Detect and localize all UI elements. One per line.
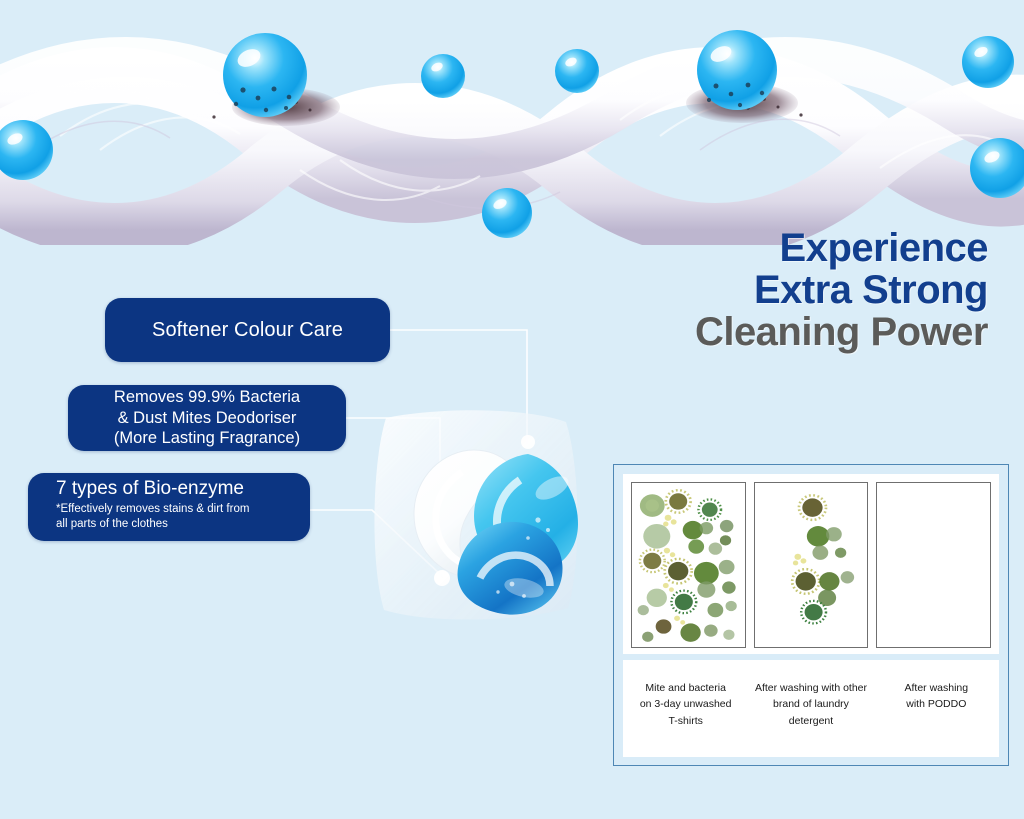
caption-poddo: After washing with PODDO: [874, 680, 999, 757]
comparison-panel: Mite and bacteria on 3-day unwashed T-sh…: [613, 464, 1009, 766]
callout-2-line-2: & Dust Mites Deodoriser: [118, 408, 297, 429]
detergent-pod-image: [352, 392, 600, 640]
callout-1-title: Softener Colour Care: [152, 319, 343, 342]
fiber-banner: [0, 0, 1024, 245]
callout-3-sub-line-2: all parts of the clothes: [56, 517, 296, 532]
callout-softener-colour-care[interactable]: Softener Colour Care: [105, 298, 390, 362]
callout-2-line-3: (More Lasting Fragrance): [114, 428, 300, 449]
caption-poddo-line-1: After washing: [877, 680, 996, 696]
germ-card-clean: [876, 482, 991, 648]
caption-poddo-line-2: with PODDO: [877, 696, 996, 712]
callout-bio-enzyme[interactable]: 7 types of Bio-enzyme *Effectively remov…: [28, 473, 310, 541]
caption-before-line-2: on 3-day unwashed: [626, 696, 745, 712]
callout-3-title: 7 types of Bio-enzyme: [56, 479, 296, 500]
headline-line-1: Experience: [695, 228, 988, 268]
caption-other-brand-line-1: After washing with other: [751, 680, 870, 696]
callout-removes-bacteria[interactable]: Removes 99.9% Bacteria & Dust Mites Deod…: [68, 385, 346, 451]
headline-line-2: Extra Strong: [695, 270, 988, 310]
caption-other-brand: After washing with other brand of laundr…: [748, 680, 873, 757]
caption-before-line-3: T-shirts: [626, 713, 745, 729]
caption-other-brand-line-2: brand of laundry detergent: [751, 696, 870, 729]
headline-block: Experience Extra Strong Cleaning Power: [695, 228, 988, 352]
caption-before-line-1: Mite and bacteria: [626, 680, 745, 696]
germ-card-light: [754, 482, 869, 648]
advertisement-canvas: Experience Extra Strong Cleaning Power S…: [0, 0, 1024, 819]
caption-before: Mite and bacteria on 3-day unwashed T-sh…: [623, 680, 748, 757]
comparison-image-row: [623, 474, 999, 654]
callout-2-line-1: Removes 99.9% Bacteria: [114, 387, 300, 408]
germ-card-heavy: [631, 482, 746, 648]
headline-line-3: Cleaning Power: [695, 312, 988, 352]
callout-3-sub-line-1: *Effectively removes stains & dirt from: [56, 502, 296, 517]
comparison-caption-row: Mite and bacteria on 3-day unwashed T-sh…: [623, 660, 999, 757]
